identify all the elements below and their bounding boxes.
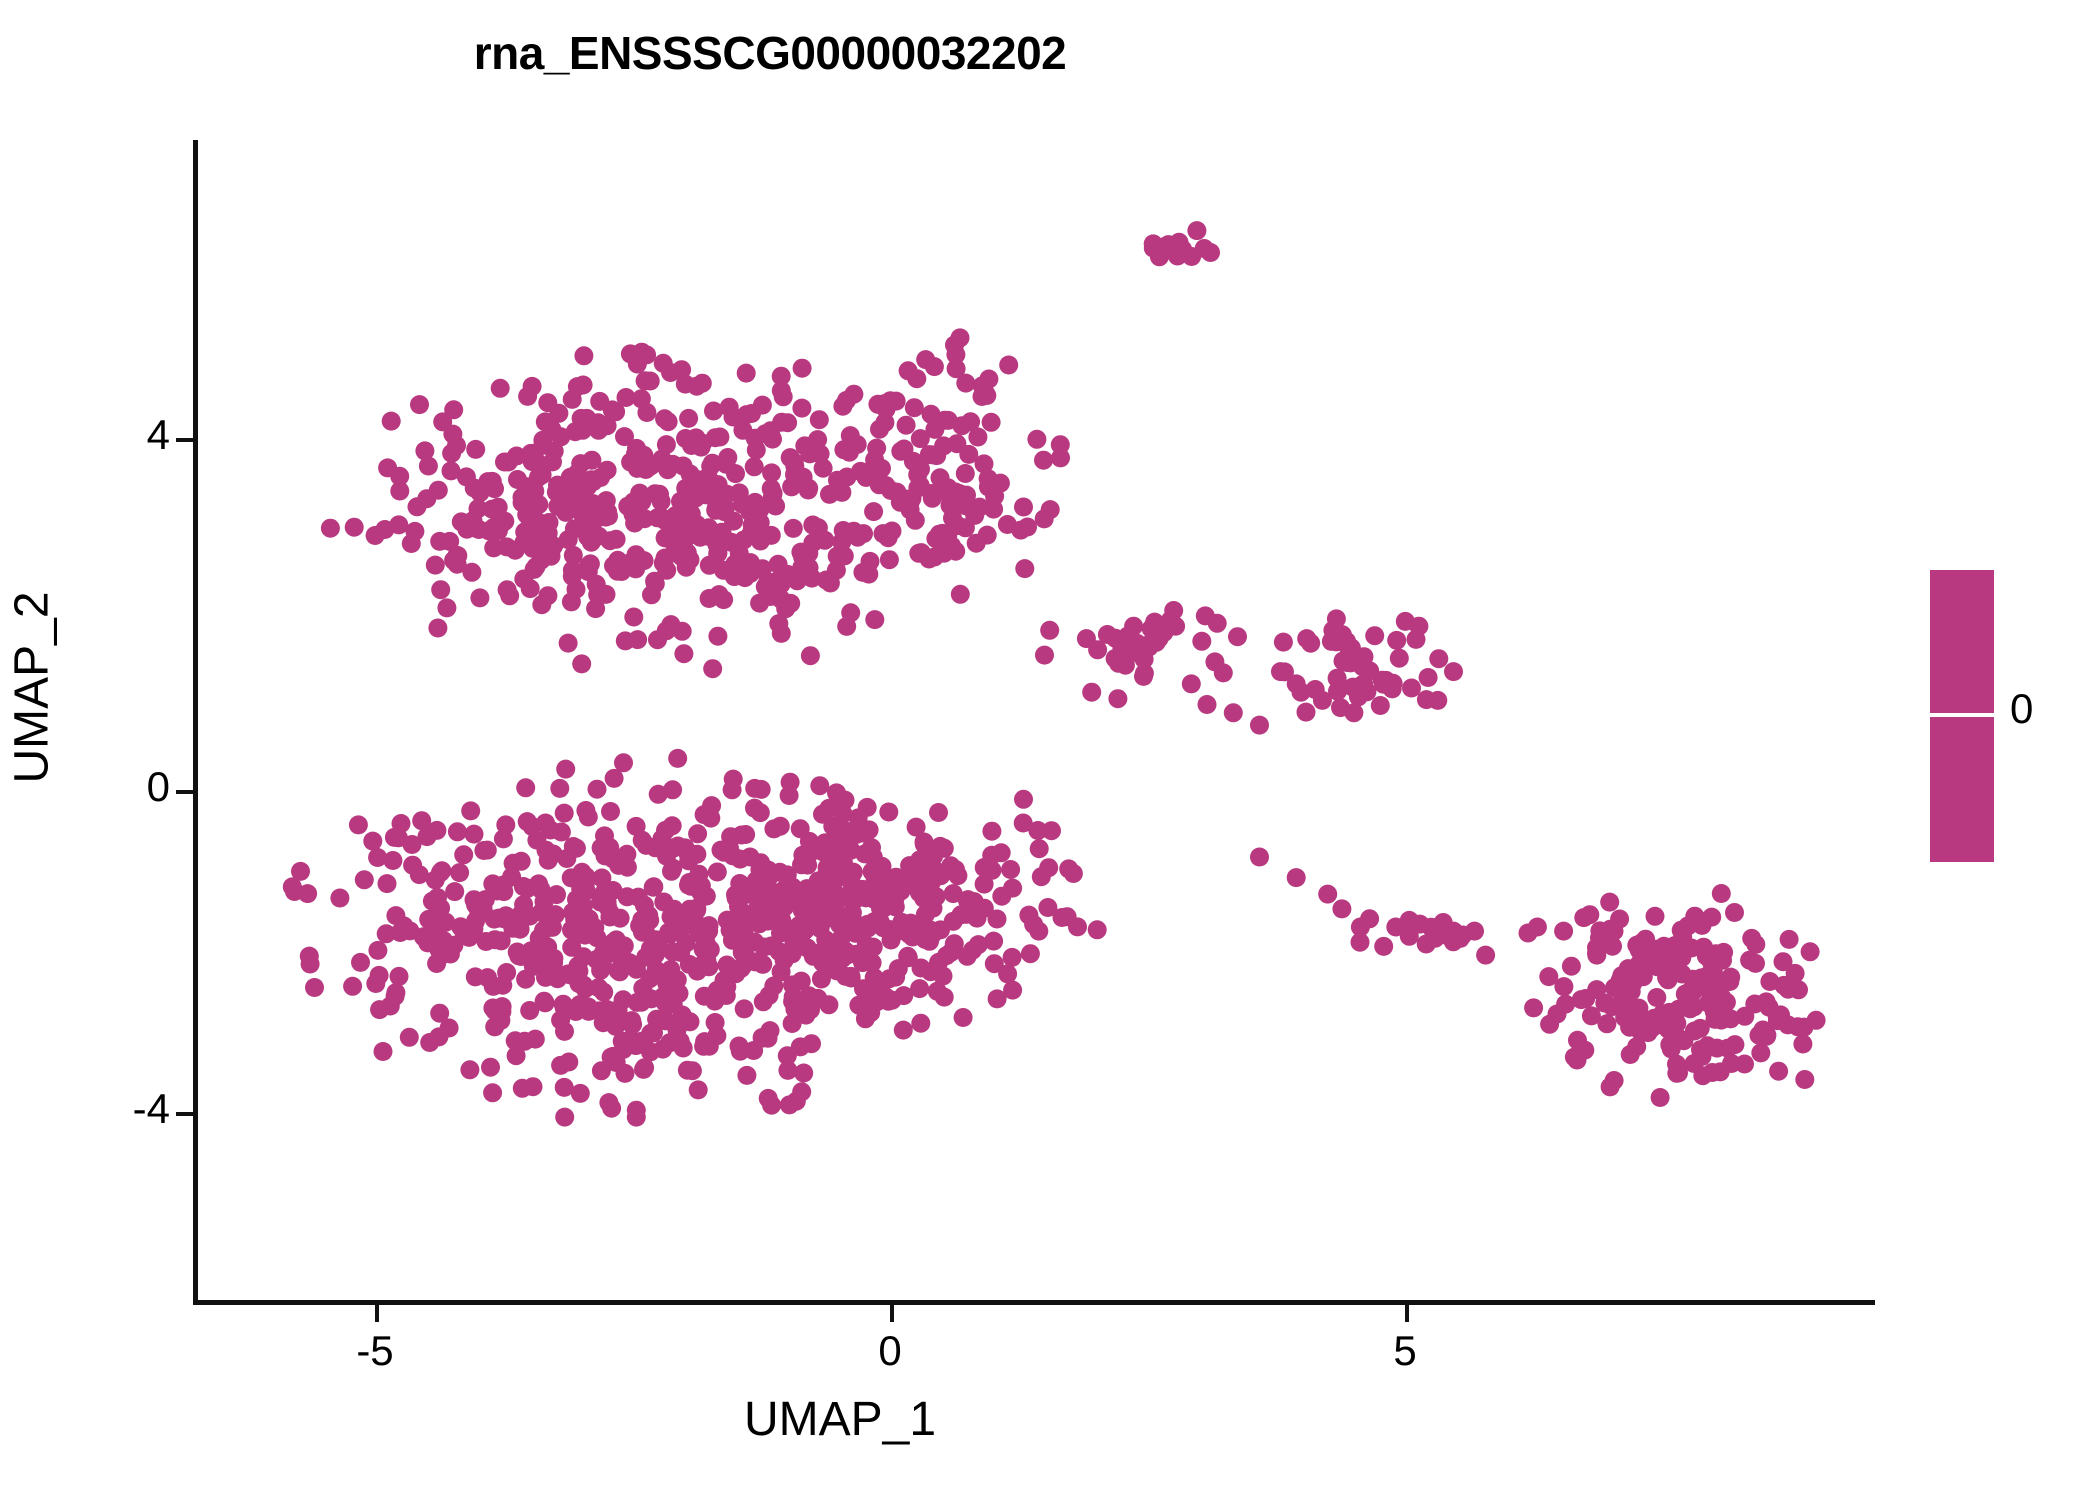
colorbar-tick-gap: [1952, 713, 1972, 717]
page-title: rna_ENSSSCG00000032202: [0, 26, 1540, 80]
x-tick-label-0: 0: [820, 1330, 960, 1372]
y-tick-label-neg4: -4: [0, 1088, 170, 1130]
y-tick-mark-neg4: [176, 1112, 194, 1116]
legend-value-label: 0: [2010, 688, 2033, 730]
scatter-points-svg: [195, 140, 1873, 1302]
y-tick-mark-4: [176, 438, 194, 442]
scatter-plot-area: [195, 140, 1873, 1302]
x-tick-label-neg5: -5: [305, 1330, 445, 1372]
x-tick-label-5: 5: [1335, 1330, 1475, 1372]
y-axis-label: UMAP_2: [5, 408, 60, 968]
y-tick-mark-0: [176, 790, 194, 794]
colorbar-gradient: [1930, 570, 1994, 862]
x-tick-mark-5: [1405, 1304, 1409, 1322]
x-tick-mark-0: [890, 1304, 894, 1322]
umap-feature-plot: rna_ENSSSCG00000032202 4 0 -4 -5 0 5 UMA…: [0, 0, 2100, 1500]
legend-colorbar: 0: [1930, 570, 2090, 900]
x-tick-mark-neg5: [375, 1304, 379, 1322]
x-axis-label: UMAP_1: [195, 1392, 1485, 1447]
